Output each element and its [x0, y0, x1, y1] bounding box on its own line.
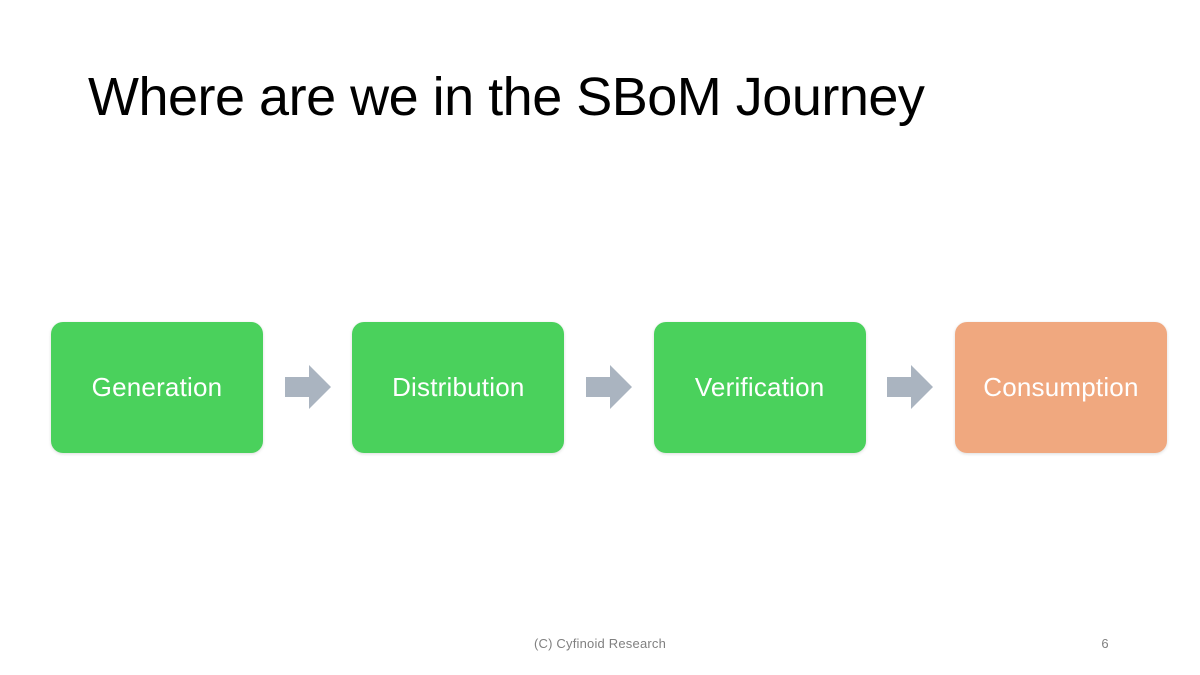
flow-node-label: Verification [695, 372, 825, 403]
arrow-right-icon [887, 362, 933, 412]
flow-node-label: Distribution [392, 372, 524, 403]
footer-credit: (C) Cyfinoid Research [0, 636, 1200, 651]
flow-node-generation[interactable]: Generation [51, 322, 263, 453]
flow-node-distribution[interactable]: Distribution [352, 322, 564, 453]
page-number: 6 [1060, 636, 1150, 651]
arrow-right-icon [285, 362, 331, 412]
arrow-right-icon [586, 362, 632, 412]
flow-node-label: Consumption [983, 372, 1138, 403]
flow-node-verification[interactable]: Verification [654, 322, 866, 453]
sbom-journey-flow: Generation Distribution Verification Con… [51, 321, 1167, 453]
flow-node-consumption[interactable]: Consumption [955, 322, 1167, 453]
flow-node-label: Generation [92, 372, 223, 403]
slide-canvas: Where are we in the SBoM Journey Generat… [0, 0, 1200, 675]
page-title: Where are we in the SBoM Journey [88, 64, 924, 130]
